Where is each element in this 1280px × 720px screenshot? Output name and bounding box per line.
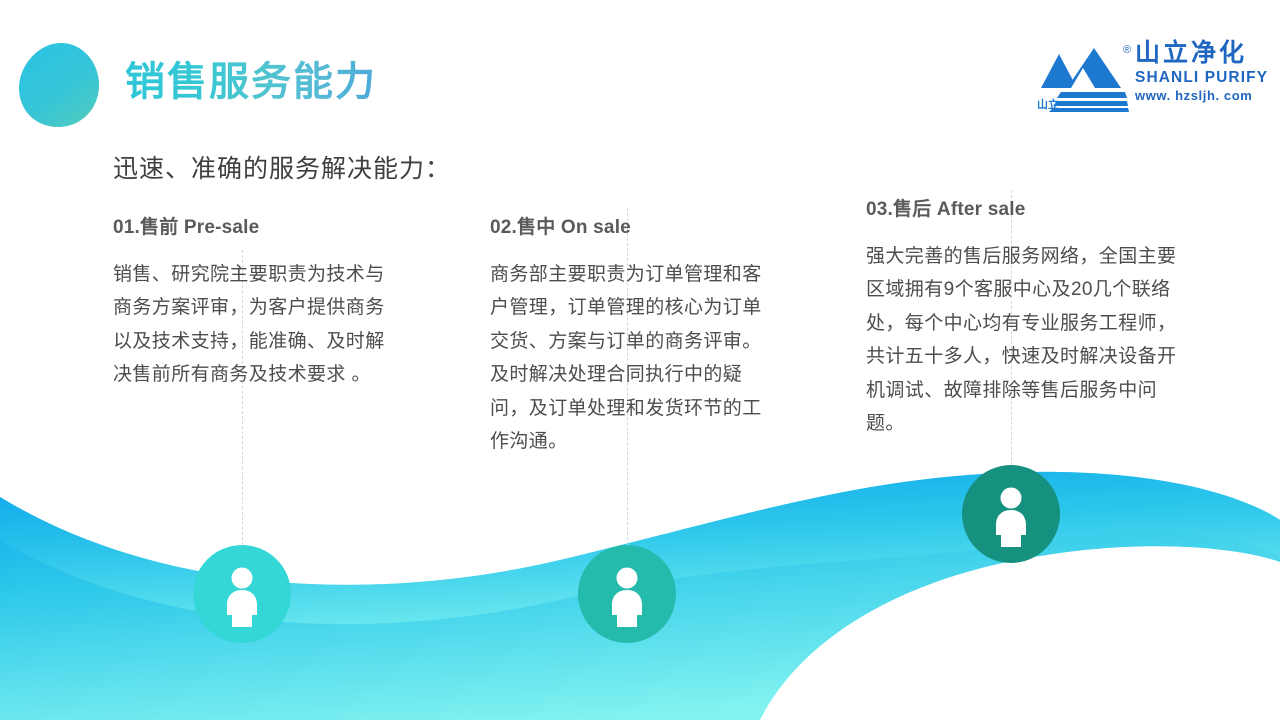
logo-website: www. hzsljh. com [1135,88,1265,104]
column-body: 强大完善的售后服务网络，全国主要区域拥有9个客服中心及20几个联络处，每个中心均… [866,240,1186,441]
marker-after-sale[interactable] [962,465,1060,563]
person-icon [193,545,291,643]
person-icon [962,465,1060,563]
logo-text-block: 山立净化 SHANLI PURIFY www. hzsljh. com [1135,40,1265,104]
wave-cutout-bottom-right [760,546,1280,720]
column-pre-sale: 01.售前 Pre-sale 销售、研究院主要职责为技术与商务方案评审，为客户提… [113,212,388,392]
marker-on-sale[interactable] [578,545,676,643]
registered-trademark-icon: ® [1123,44,1131,56]
slide-canvas: 销售服务能力 山立 山立净化 SHANLI PURIFY www. hzsljh… [0,0,1280,720]
column-heading: 02.售中 On sale [490,212,780,239]
column-heading: 01.售前 Pre-sale [113,212,388,239]
column-body: 销售、研究院主要职责为技术与商务方案评审，为客户提供商务以及技术支持，能准确、及… [113,258,388,392]
header-blob-shape [17,41,101,129]
logo-name-en: SHANLI PURIFY [1135,69,1265,88]
logo-name-cn: 山立净化 [1135,40,1265,68]
subtitle: 迅速、准确的服务解决能力： [113,149,451,185]
page-title: 销售服务能力 [125,57,377,107]
marker-pre-sale[interactable] [193,545,291,643]
person-icon [578,545,676,643]
column-on-sale: 02.售中 On sale 商务部主要职责为订单管理和客户管理，订单管理的核心为… [490,212,780,459]
column-heading: 03.售后 After sale [866,194,1186,221]
column-after-sale: 03.售后 After sale 强大完善的售后服务网络，全国主要区域拥有9个客… [866,194,1186,441]
logo-mark-label: 山立 [1037,97,1059,111]
company-logo: 山立 山立净化 SHANLI PURIFY www. hzsljh. com ® [1037,40,1262,118]
mountain-logo-icon: 山立 [1037,42,1129,114]
column-body: 商务部主要职责为订单管理和客户管理，订单管理的核心为订单交货、方案与订单的商务评… [490,258,780,459]
